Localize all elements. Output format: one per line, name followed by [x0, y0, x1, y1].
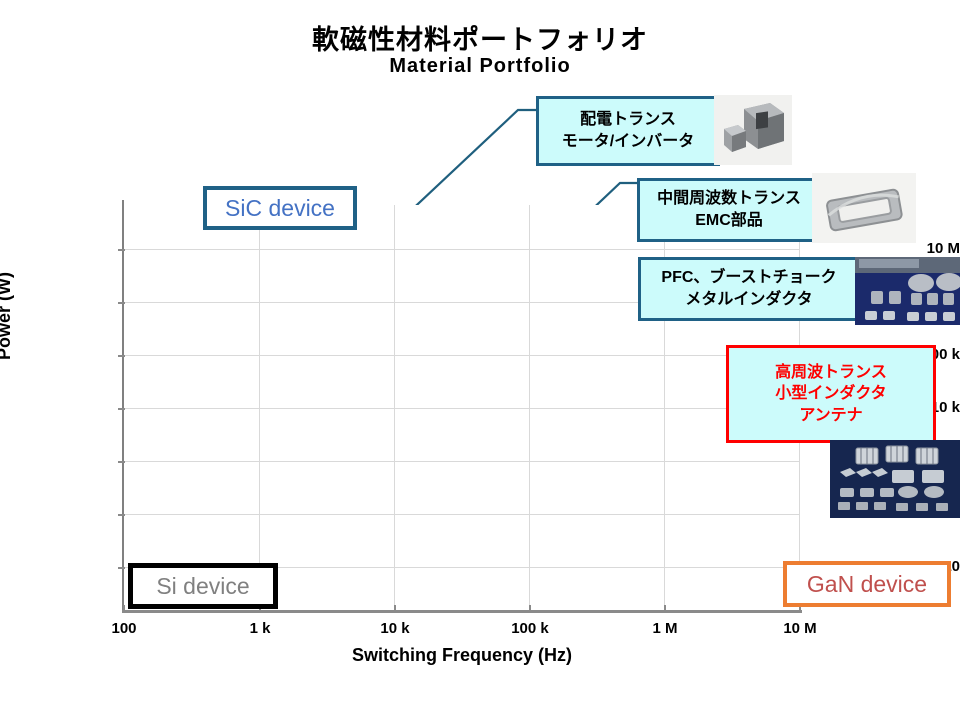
gridline-h-100k [124, 355, 800, 356]
tag-sic-device[interactable]: SiC device [203, 186, 357, 230]
gridline-v-10k [394, 205, 395, 605]
x-axis-line [122, 610, 802, 613]
xtick-mark-100 [123, 605, 125, 613]
page-title-english: Material Portfolio [0, 55, 960, 78]
callout-4-line2: 小型インダクタ [775, 383, 886, 405]
tag-gan-device[interactable]: GaN device [783, 561, 951, 607]
smd-ferrite-parts-photo [830, 440, 960, 518]
xtick-label-1k: 1 k [220, 620, 300, 637]
gridline-h-1k [124, 461, 800, 462]
transformer-core-photo [714, 95, 792, 165]
ytick-mark-10 [118, 567, 125, 569]
gridline-h-10m [124, 249, 800, 250]
page-title-japanese: 軟磁性材料ポートフォリオ [0, 18, 960, 57]
y-axis-line [122, 200, 124, 612]
ytick-mark-1m [118, 302, 125, 304]
ytick-mark-100k [118, 355, 125, 357]
callout-intermediate-frequency-transformer[interactable]: 中間周波数トランス EMC部品 [637, 178, 821, 242]
tag-si-device-label: Si device [156, 573, 249, 600]
gridline-v-1k [259, 205, 260, 605]
x-axis-label: Switching Frequency (Hz) [124, 645, 800, 666]
xtick-label-100: 100 [84, 620, 164, 637]
callout-2-line2: EMC部品 [695, 210, 763, 232]
ytick-mark-100 [118, 514, 125, 516]
metal-inductor-board-photo [855, 257, 960, 325]
xtick-label-10m: 10 M [760, 620, 840, 637]
callout-4-line1: 高周波トランス [775, 362, 887, 384]
xtick-mark-10k [394, 605, 396, 613]
gridline-v-100k [529, 205, 530, 605]
xtick-label-1m: 1 M [625, 620, 705, 637]
callout-pfc-boost-choke[interactable]: PFC、ブーストチョーク メタルインダクタ [638, 257, 860, 321]
tag-gan-device-label: GaN device [807, 571, 927, 598]
tag-si-device[interactable]: Si device [128, 563, 278, 609]
callout-4-line3: アンテナ [799, 405, 862, 427]
callout-3-line2: メタルインダクタ [685, 289, 812, 311]
gridline-h-10k [124, 408, 800, 409]
xtick-label-10k: 10 k [355, 620, 435, 637]
callout-1-line1: 配電トランス [580, 109, 676, 131]
ytick-mark-10m [118, 249, 125, 251]
ytick-mark-1k [118, 461, 125, 463]
callout-1-line2: モータ/インバータ [562, 131, 694, 153]
emc-core-photo [812, 173, 916, 243]
ytick-mark-10k [118, 408, 125, 410]
tag-sic-device-label: SiC device [225, 195, 335, 222]
callout-2-line1: 中間周波数トランス [657, 188, 801, 210]
xtick-mark-1m [664, 605, 666, 613]
xtick-mark-100k [529, 605, 531, 613]
slide-root: 軟磁性材料ポートフォリオ Material Portfolio [0, 0, 960, 720]
callout-high-frequency-transformer[interactable]: 高周波トランス 小型インダクタ アンテナ [726, 345, 936, 443]
callout-distribution-transformer[interactable]: 配電トランス モータ/インバータ [536, 96, 720, 166]
xtick-label-100k: 100 k [490, 620, 570, 637]
y-axis-label: Power (W) [0, 272, 15, 360]
callout-3-line1: PFC、ブーストチョーク [661, 267, 836, 289]
gridline-h-100 [124, 514, 800, 515]
